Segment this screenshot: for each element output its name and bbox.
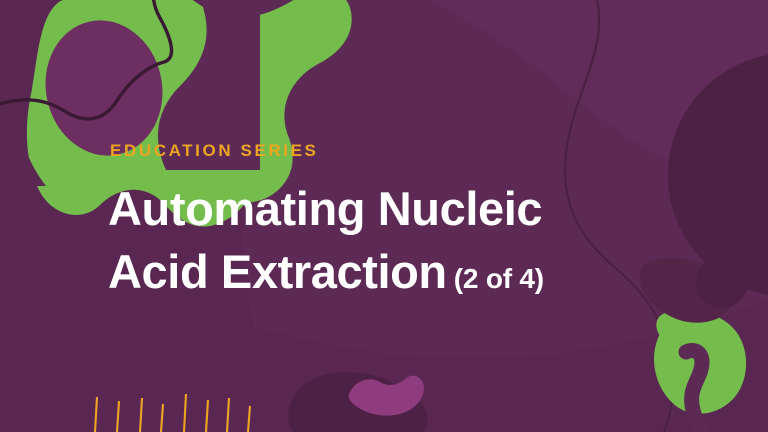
eyebrow-label: EDUCATION SERIES — [110, 142, 318, 159]
title-slide: EDUCATION SERIES Automating Nucleic Acid… — [0, 0, 768, 432]
title-line-2: Acid Extraction — [108, 245, 447, 298]
slide-content: EDUCATION SERIES Automating Nucleic Acid… — [0, 0, 768, 432]
title-line-2-row: Acid Extraction(2 of 4) — [108, 241, 668, 304]
title-part-indicator: (2 of 4) — [447, 263, 544, 294]
title-line-1: Automating Nucleic — [108, 178, 668, 241]
page-title: Automating Nucleic Acid Extraction(2 of … — [108, 178, 668, 303]
